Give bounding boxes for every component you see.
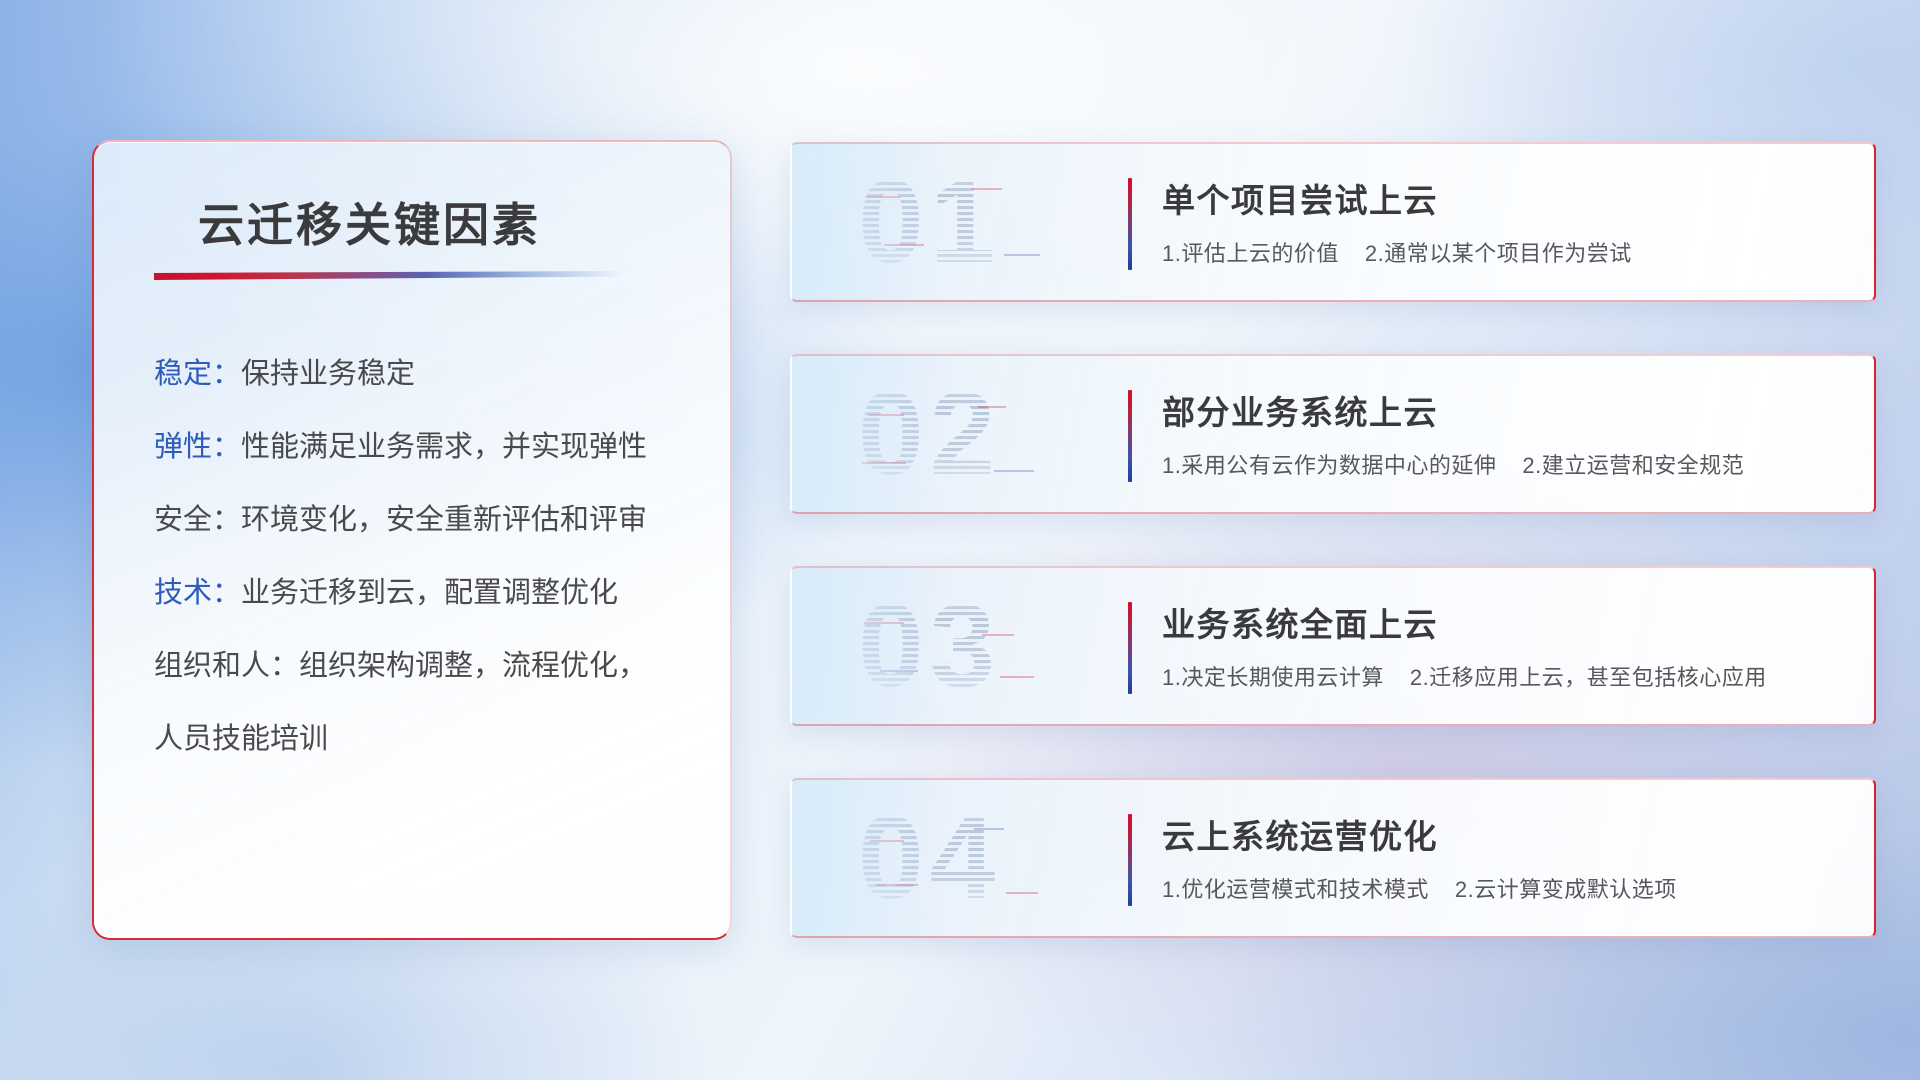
slide-stage: 云迁移关键因素 稳定：保持业务稳定 弹性：性能满足业务需求，并实现弹性 安全：环… [0,0,1920,1080]
stage-card-01[interactable]: 01 单个项目尝试上云 1.评估上云的价值2.通常以某个项目作为尝试 [790,142,1876,302]
card-accent-divider [1128,602,1132,694]
card-accent-divider [1128,814,1132,906]
watermark-number-icon: 04 [854,794,1104,922]
stage-card-02[interactable]: 02 部分业务系统上云 1.采用公有云作为数据中心的延伸2.建立运营和安全规范 [790,354,1876,514]
key-factors-list: 稳定：保持业务稳定 弹性：性能满足业务需求，并实现弹性 安全：环境变化，安全重新… [154,360,696,754]
list-item-value: 组织架构调整，流程优化， [299,650,647,682]
list-item-value: 环境变化，安全重新评估和评审 [241,504,647,536]
list-item-value: 保持业务稳定 [241,358,415,390]
watermark-number-icon: 03 [854,582,1104,710]
list-item-label: 弹性： [154,431,241,463]
card-subtitle-part-2: 2.建立运营和安全规范 [1522,453,1744,478]
card-title: 单个项目尝试上云 [1162,174,1438,222]
list-item: 弹性：性能满足业务需求，并实现弹性 [154,433,696,462]
list-item: 安全：环境变化，安全重新评估和评审 [154,506,696,535]
card-subtitle-part-2: 2.迁移应用上云，甚至包括核心应用 [1410,665,1767,690]
svg-text:03: 03 [858,582,1001,710]
page-title: 云迁移关键因素 [198,189,541,255]
key-factors-panel: 云迁移关键因素 稳定：保持业务稳定 弹性：性能满足业务需求，并实现弹性 安全：环… [92,140,732,940]
card-subtitle-part-1: 1.评估上云的价值 [1162,241,1339,266]
stage-card-04[interactable]: 04 云上系统运营优化 1.优化运营模式和技术模式2.云计算变成默认选项 [790,778,1876,938]
card-title: 部分业务系统上云 [1162,386,1438,434]
title-underline-bar [154,271,624,280]
watermark-number-icon: 02 [854,370,1104,498]
list-item: 稳定：保持业务稳定 [154,360,696,389]
svg-text:01: 01 [858,158,1001,286]
list-item-label: 稳定： [154,358,241,390]
list-item: 技术：业务迁移到云，配置调整优化 [154,579,696,608]
watermark-number-icon: 01 [854,158,1104,286]
card-subtitle: 1.优化运营模式和技术模式2.云计算变成默认选项 [1162,872,1677,904]
stage-card-03[interactable]: 03 业务系统全面上云 1.决定长期使用云计算2.迁移应用上云，甚至包括核心应用 [790,566,1876,726]
list-item-label: 技术： [154,577,241,609]
list-item: 人员技能培训 [154,725,696,754]
list-item-label: 组织和人： [154,650,299,682]
svg-text:02: 02 [858,370,1001,498]
list-item-value: 人员技能培训 [154,723,328,755]
card-subtitle-part-1: 1.优化运营模式和技术模式 [1162,877,1429,902]
card-subtitle-part-1: 1.采用公有云作为数据中心的延伸 [1162,453,1496,478]
list-item-value: 性能满足业务需求，并实现弹性 [241,431,647,463]
svg-text:04: 04 [858,794,1001,922]
card-subtitle: 1.采用公有云作为数据中心的延伸2.建立运营和安全规范 [1162,448,1744,480]
card-subtitle-part-2: 2.通常以某个项目作为尝试 [1365,241,1632,266]
list-item: 组织和人：组织架构调整，流程优化， [154,652,696,681]
card-subtitle: 1.评估上云的价值2.通常以某个项目作为尝试 [1162,236,1632,268]
card-subtitle-part-2: 2.云计算变成默认选项 [1455,877,1677,902]
card-subtitle-part-1: 1.决定长期使用云计算 [1162,665,1384,690]
card-title: 云上系统运营优化 [1162,810,1438,858]
list-item-label: 安全： [154,504,241,536]
card-subtitle: 1.决定长期使用云计算2.迁移应用上云，甚至包括核心应用 [1162,660,1767,692]
card-title: 业务系统全面上云 [1162,598,1438,646]
list-item-value: 业务迁移到云，配置调整优化 [241,577,618,609]
card-accent-divider [1128,178,1132,270]
card-accent-divider [1128,390,1132,482]
